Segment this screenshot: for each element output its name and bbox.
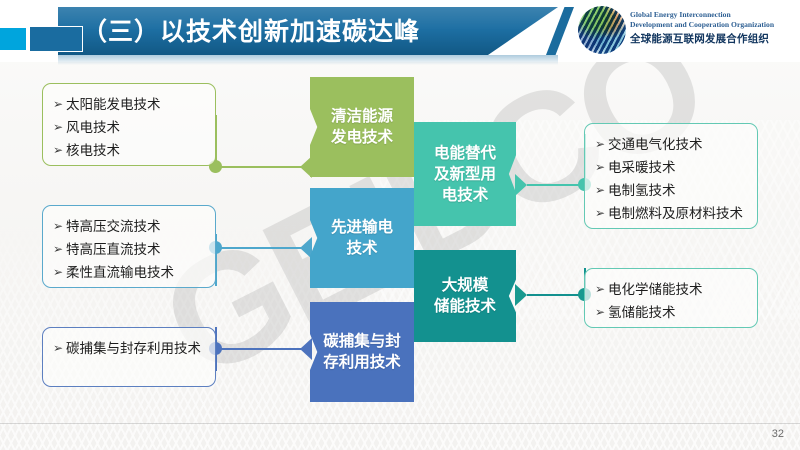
electrification-outputs-box[interactable]: ➢交通电气化技术 ➢电采暖技术 ➢电制氢技术 ➢电制燃料及原材料技术 (584, 123, 758, 229)
connector-green-horizontal (215, 166, 307, 168)
transmission-inputs-box[interactable]: ➢特高压交流技术 ➢特高压直流技术 ➢柔性直流输电技术 (42, 205, 216, 288)
storage-outputs-box[interactable]: ➢电化学储能技术 ➢氢储能技术 (584, 268, 758, 328)
org-name-cn: 全球能源互联网发展合作组织 (630, 32, 800, 46)
bullet-icon: ➢ (53, 261, 63, 284)
bullet-icon: ➢ (53, 93, 63, 116)
list-item: ➢电化学储能技术 (595, 278, 747, 301)
bullet-icon: ➢ (53, 139, 63, 162)
org-name-en-line2: Development and Cooperation Organization (630, 20, 800, 30)
slide-header: （三）以技术创新加速碳达峰 Global Energy Interconnect… (0, 0, 800, 62)
connector-arrow-mint (515, 174, 527, 196)
list-item: ➢电制氢技术 (595, 179, 747, 202)
list-item: ➢特高压直流技术 (53, 238, 205, 261)
footer-divider (0, 423, 800, 424)
page-number: 32 (772, 428, 784, 440)
list-item: ➢柔性直流输电技术 (53, 261, 205, 284)
bullet-icon: ➢ (595, 179, 605, 202)
node-line: 储能技术 (428, 296, 502, 317)
node-line: 电技术 (428, 185, 502, 206)
node-line: 先进输电 (325, 217, 399, 238)
connector-arrow-navy (300, 338, 312, 360)
connector-mint-horizontal (527, 184, 585, 186)
diagram-canvas: ➢太阳能发电技术 ➢风电技术 ➢核电技术 ➢特高压交流技术 ➢特高压直流技术 ➢… (0, 62, 800, 450)
list-item: ➢太阳能发电技术 (53, 93, 205, 116)
node-advanced-transmission[interactable]: 先进输电 技术 (310, 188, 414, 288)
bullet-icon: ➢ (53, 215, 63, 238)
node-line: 电能替代 (428, 143, 502, 164)
node-line: 发电技术 (325, 127, 399, 148)
node-electric-substitution[interactable]: 电能替代 及新型用 电技术 (414, 122, 516, 226)
node-line: 存利用技术 (317, 352, 407, 373)
list-item: ➢电制燃料及原材料技术 (595, 202, 747, 225)
list-item: ➢核电技术 (53, 139, 205, 162)
org-name-en-line1: Global Energy Interconnection (630, 10, 800, 20)
node-line: 及新型用 (428, 164, 502, 185)
list-item: ➢风电技术 (53, 116, 205, 139)
list-item: ➢交通电气化技术 (595, 133, 747, 156)
connector-blue-horizontal (215, 247, 307, 249)
node-line: 大规模 (428, 275, 502, 296)
node-large-scale-storage[interactable]: 大规模 储能技术 (414, 250, 516, 342)
page-title: （三）以技术创新加速碳达峰 (82, 14, 512, 50)
bullet-icon: ➢ (53, 337, 63, 360)
slide: GEIDCO （三）以技术创新加速碳达峰 Global Energy Inter… (0, 0, 800, 450)
bullet-icon: ➢ (53, 116, 63, 139)
node-line: 清洁能源 (325, 106, 399, 127)
ccus-inputs-box[interactable]: ➢碳捕集与封存利用技术 (42, 327, 216, 387)
connector-teal-horizontal (527, 294, 585, 296)
organization-name: Global Energy Interconnection Developmen… (630, 10, 800, 46)
bullet-icon: ➢ (595, 202, 605, 225)
bullet-icon: ➢ (595, 278, 605, 301)
node-carbon-capture[interactable]: 碳捕集与封 存利用技术 (310, 302, 414, 402)
bullet-icon: ➢ (595, 301, 605, 324)
connector-navy-horizontal (215, 348, 307, 350)
node-line: 碳捕集与封 (317, 331, 407, 352)
list-item: ➢电采暖技术 (595, 156, 747, 179)
globe-logo-icon (578, 6, 626, 54)
bullet-icon: ➢ (595, 156, 605, 179)
list-item: ➢氢储能技术 (595, 301, 747, 324)
list-item: ➢特高压交流技术 (53, 215, 205, 238)
connector-arrow-teal (515, 284, 527, 306)
bullet-icon: ➢ (53, 238, 63, 261)
node-clean-energy-generation[interactable]: 清洁能源 发电技术 (310, 77, 414, 177)
bullet-icon: ➢ (595, 133, 605, 156)
list-item: ➢碳捕集与封存利用技术 (53, 337, 205, 360)
header-accent-square-cyan (0, 28, 26, 50)
clean-energy-inputs-box[interactable]: ➢太阳能发电技术 ➢风电技术 ➢核电技术 (42, 83, 216, 166)
header-accent-square-blue (29, 26, 83, 52)
node-line: 技术 (325, 238, 399, 259)
